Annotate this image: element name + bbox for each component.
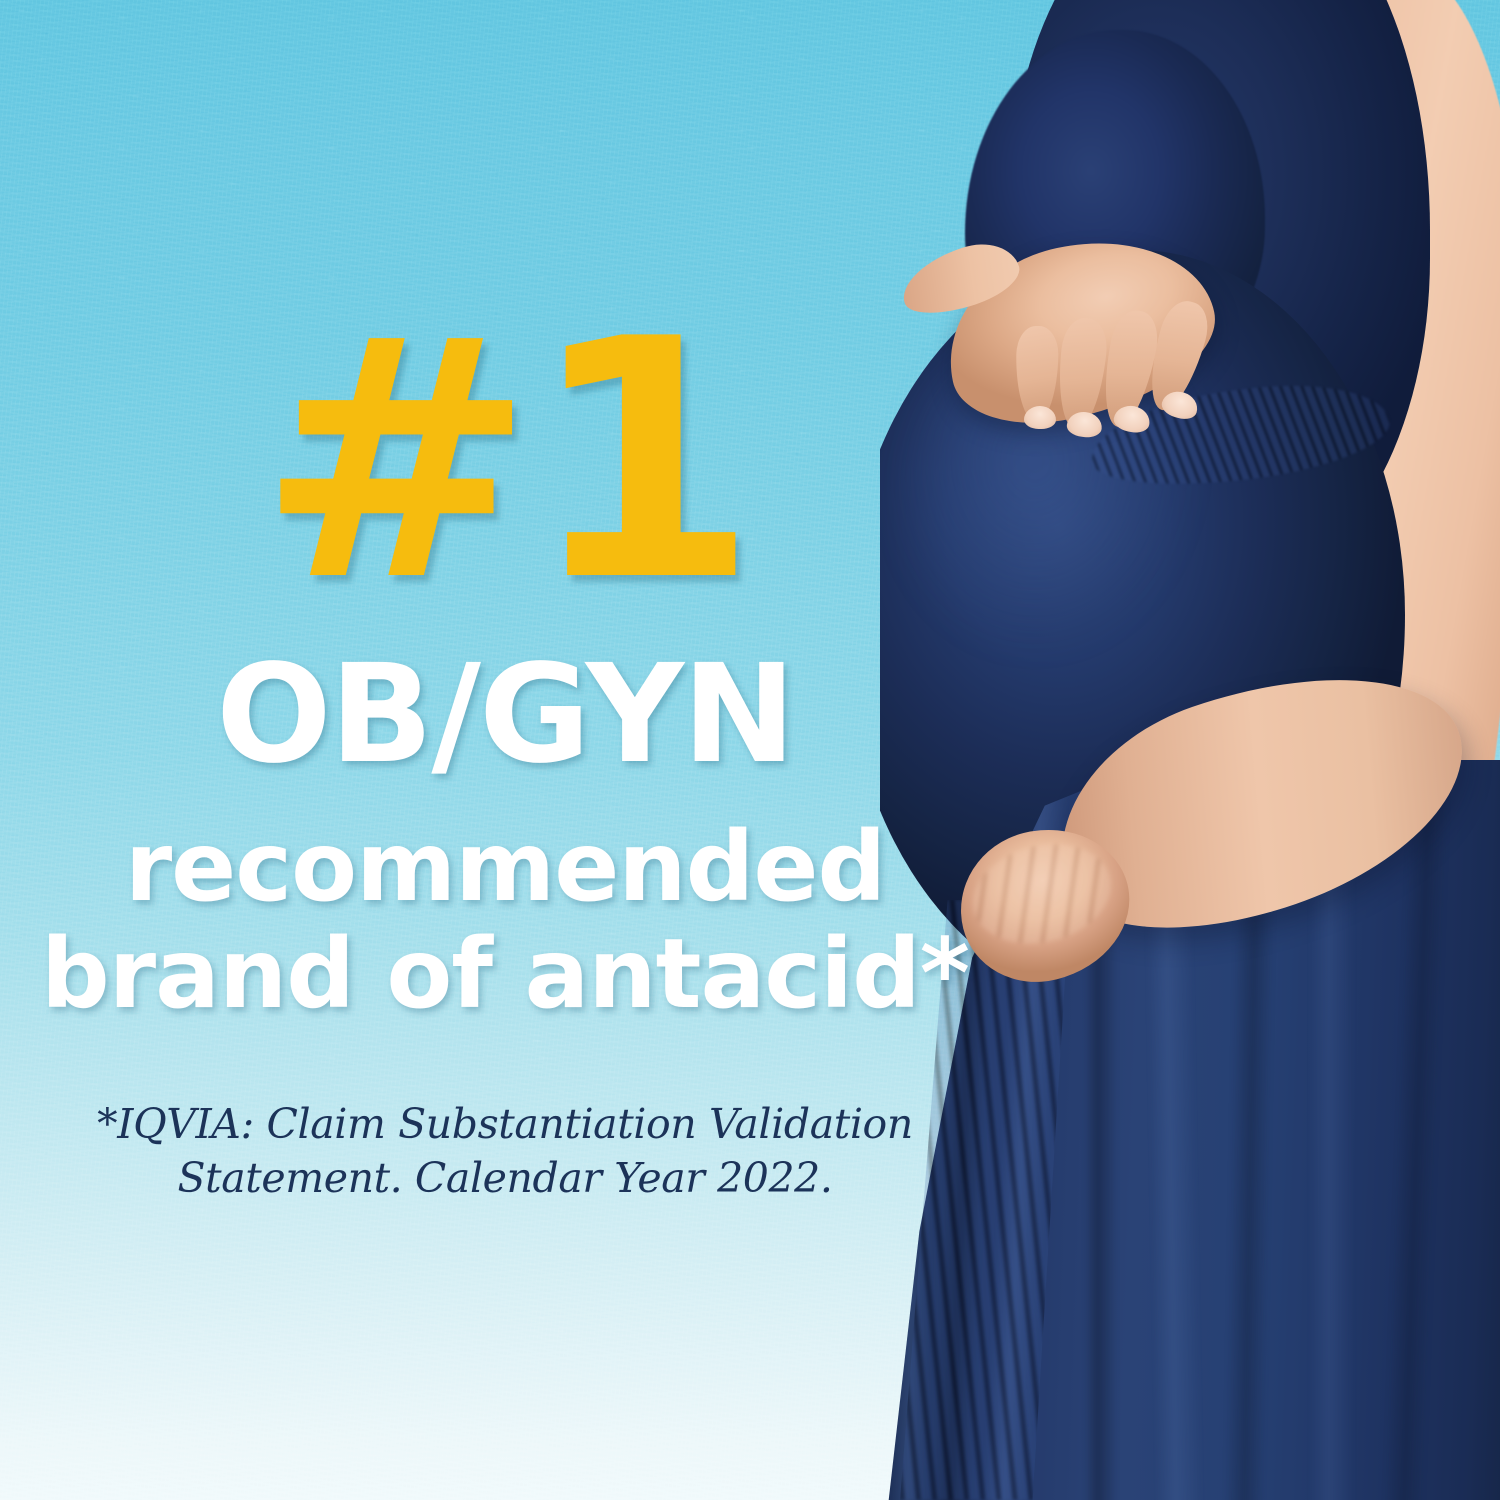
rank-number: #1: [0, 300, 1010, 623]
claim-line-1: recommended: [0, 817, 1010, 918]
footnote-line-1: *IQVIA: Claim Substantiation Validation: [0, 1097, 1010, 1151]
footnote: *IQVIA: Claim Substantiation Validation …: [0, 1097, 1010, 1205]
advertisement-canvas: #1 OB/GYN recommended brand of antacid* …: [0, 0, 1500, 1500]
claim-line-2: brand of antacid*: [0, 924, 1010, 1025]
fingernail: [1024, 406, 1056, 430]
headline-copy-block: #1 OB/GYN recommended brand of antacid* …: [0, 300, 1010, 1205]
footnote-line-2: Statement. Calendar Year 2022.: [0, 1151, 1010, 1205]
specialty-headline: OB/GYN: [0, 647, 1010, 783]
